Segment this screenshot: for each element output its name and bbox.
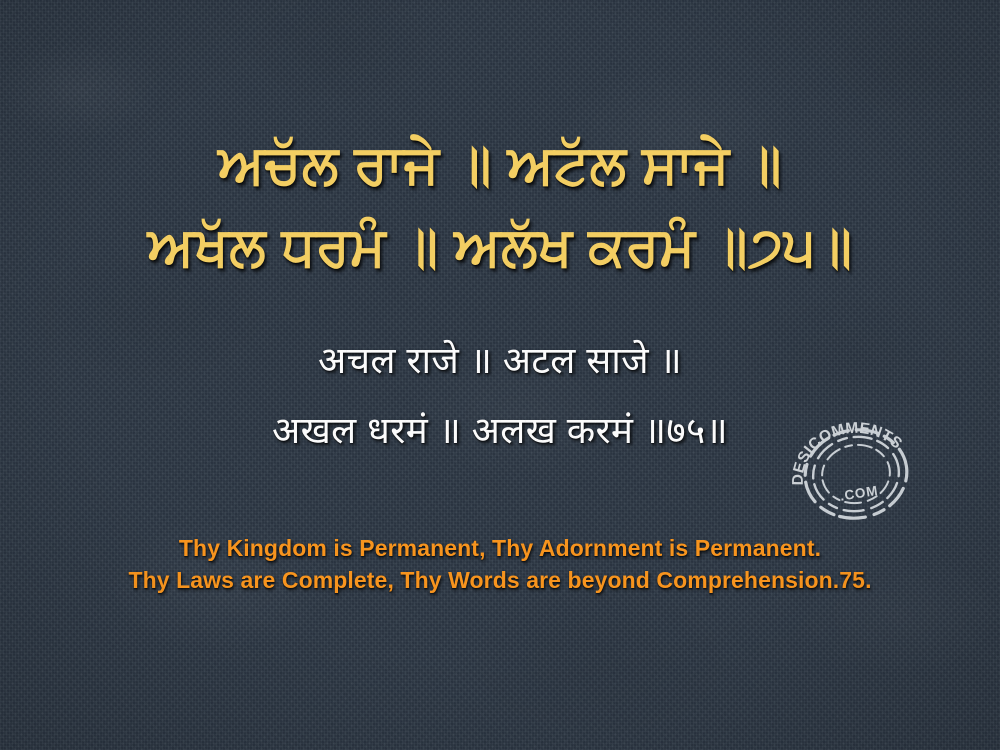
gurmukhi-line-2: ਅਖੱਲ ਧਰਮੰ ॥ ਅਲੱਖ ਕਰਮੰ ॥੭੫॥ bbox=[0, 206, 1000, 288]
english-translation-block: Thy Kingdom is Permanent, Thy Adornment … bbox=[0, 533, 1000, 596]
devanagari-line-2: अखल धरमं ॥ अलख करमं ॥७५॥ bbox=[0, 396, 1000, 466]
gurmukhi-line-1: ਅਚੱਲ ਰਾਜੇ ॥ ਅਟੱਲ ਸਾਜੇ ॥ bbox=[0, 124, 1000, 206]
image-canvas: ਅਚੱਲ ਰਾਜੇ ॥ ਅਟੱਲ ਸਾਜੇ ॥ ਅਖੱਲ ਧਰਮੰ ॥ ਅਲੱਖ… bbox=[0, 0, 1000, 750]
devanagari-line-1: अचल राजे ॥ अटल साजे ॥ bbox=[0, 326, 1000, 396]
devanagari-verse-block: अचल राजे ॥ अटल साजे ॥ अखल धरमं ॥ अलख करम… bbox=[0, 326, 1000, 465]
gurmukhi-verse-block: ਅਚੱਲ ਰਾਜੇ ॥ ਅਟੱਲ ਸਾਜੇ ॥ ਅਖੱਲ ਧਰਮੰ ॥ ਅਲੱਖ… bbox=[0, 124, 1000, 288]
english-line-1: Thy Kingdom is Permanent, Thy Adornment … bbox=[0, 533, 1000, 565]
english-line-2: Thy Laws are Complete, Thy Words are bey… bbox=[0, 565, 1000, 597]
content-layer: ਅਚੱਲ ਰਾਜੇ ॥ ਅਟੱਲ ਸਾਜੇ ॥ ਅਖੱਲ ਧਰਮੰ ॥ ਅਲੱਖ… bbox=[0, 0, 1000, 750]
watermark-domain-text: .COM bbox=[839, 483, 879, 504]
